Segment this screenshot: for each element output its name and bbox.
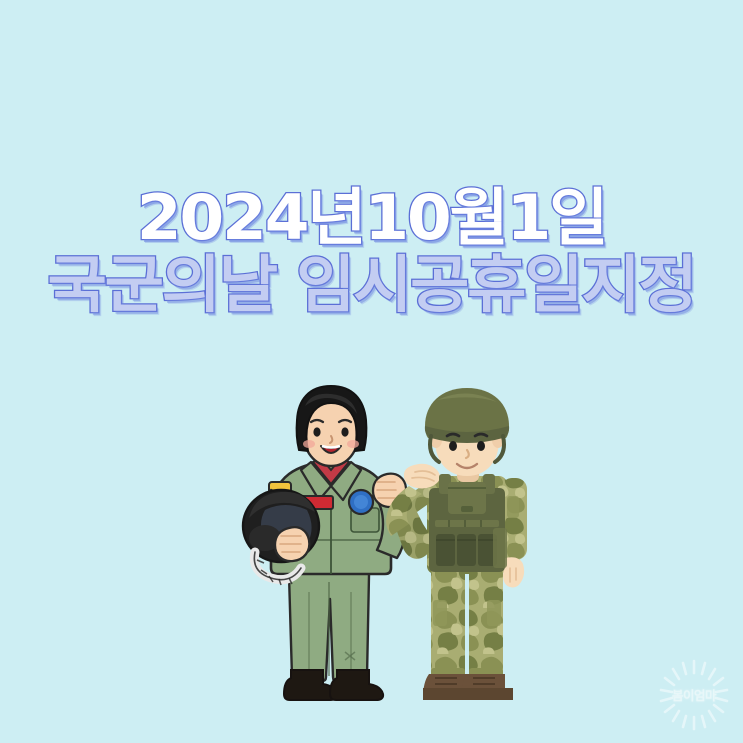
figure-female-pilot bbox=[243, 386, 406, 700]
headline-line-2: 국군의날 임시공휴일지정 bbox=[0, 255, 743, 315]
soldier-tactical-vest bbox=[429, 474, 507, 572]
watermark: 봄이엄마 bbox=[653, 653, 735, 735]
sunburst-icon bbox=[653, 653, 735, 735]
headline-line-1: 2024년10월1일 bbox=[0, 188, 743, 248]
figure-saluting-soldier bbox=[386, 388, 527, 700]
poster-canvas: 2024년10월1일 국군의날 임시공휴일지정 bbox=[0, 0, 743, 743]
soldier-head bbox=[425, 388, 509, 476]
pilot-head bbox=[297, 386, 367, 466]
watermark-text: 봄이엄마 bbox=[653, 653, 735, 735]
illustration-figures bbox=[205, 378, 545, 718]
headline-block: 2024년10월1일 국군의날 임시공휴일지정 bbox=[0, 188, 743, 314]
